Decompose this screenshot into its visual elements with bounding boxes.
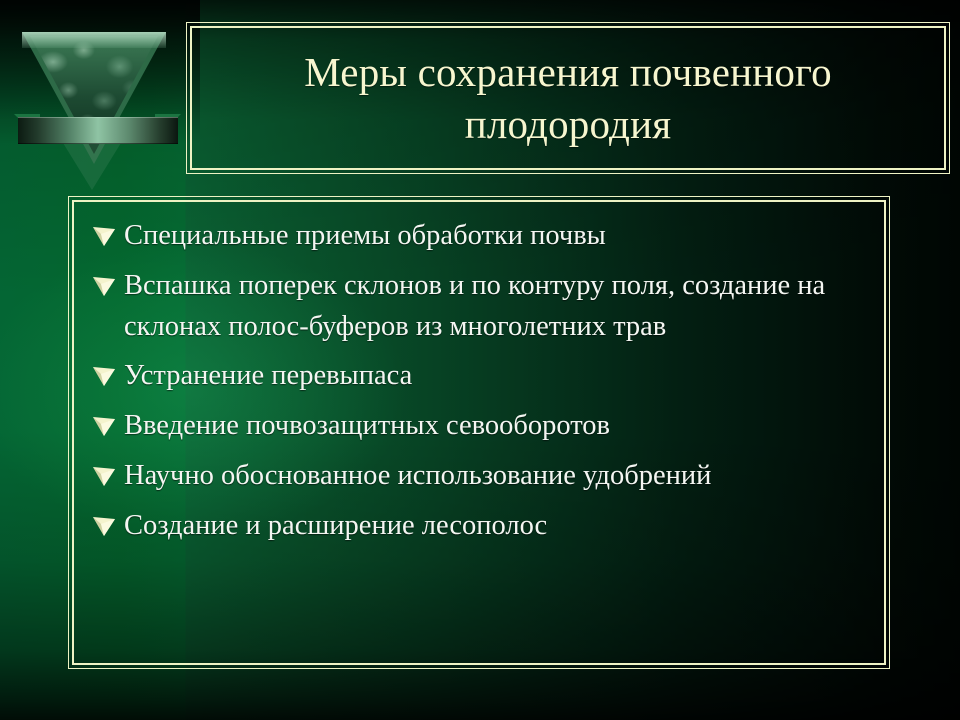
list-item-label: Научно обоснованное использование удобре… — [124, 456, 711, 497]
title-line-2: плодородия — [465, 101, 672, 147]
list-item-label: Вспашка поперек склонов и по контуру пол… — [124, 266, 862, 348]
title-frame: Меры сохранения почвенного плодородия — [186, 22, 950, 174]
chevron-down-arrowhead-icon — [92, 356, 124, 387]
list-item-2: Вспашка поперек склонов и по контуру пол… — [92, 266, 862, 348]
slide-title: Меры сохранения почвенного плодородия — [290, 46, 846, 151]
title-line-1: Меры сохранения почвенного — [304, 49, 832, 95]
triangle-top-rim — [22, 32, 166, 48]
list-item-6: Создание и расширение лесополос — [92, 506, 862, 547]
content-frame: Специальные приемы обработки почвы Вспаш… — [68, 196, 890, 669]
presentation-slide: Меры сохранения почвенного плодородия Сп… — [0, 0, 960, 720]
list-item-1: Специальные приемы обработки почвы — [92, 216, 862, 257]
list-item-label: Специальные приемы обработки почвы — [124, 216, 606, 257]
list-item-label: Введение почвозащитных севооборотов — [124, 406, 610, 447]
list-item-label: Создание и расширение лесополос — [124, 506, 547, 547]
list-item-3: Устранение перевыпаса — [92, 356, 862, 397]
chevron-down-arrowhead-icon — [92, 506, 124, 537]
chevron-down-arrowhead-icon — [92, 266, 124, 297]
chevron-down-arrowhead-icon — [92, 406, 124, 437]
triangle-lower-ghost-point — [60, 138, 124, 190]
list-item-5: Научно обоснованное использование удобре… — [92, 456, 862, 497]
triangle-metallic-band — [18, 117, 178, 144]
bullet-list: Специальные приемы обработки почвы Вспаш… — [92, 216, 862, 546]
chevron-down-arrowhead-icon — [92, 456, 124, 487]
list-item-4: Введение почвозащитных севооборотов — [92, 406, 862, 447]
chevron-down-arrowhead-icon — [92, 216, 124, 247]
list-item-label: Устранение перевыпаса — [124, 356, 412, 397]
title-frame-inner-border: Меры сохранения почвенного плодородия — [190, 26, 946, 170]
content-frame-inner-border: Специальные приемы обработки почвы Вспаш… — [72, 200, 886, 665]
inverted-triangle-logo-icon — [8, 18, 193, 183]
